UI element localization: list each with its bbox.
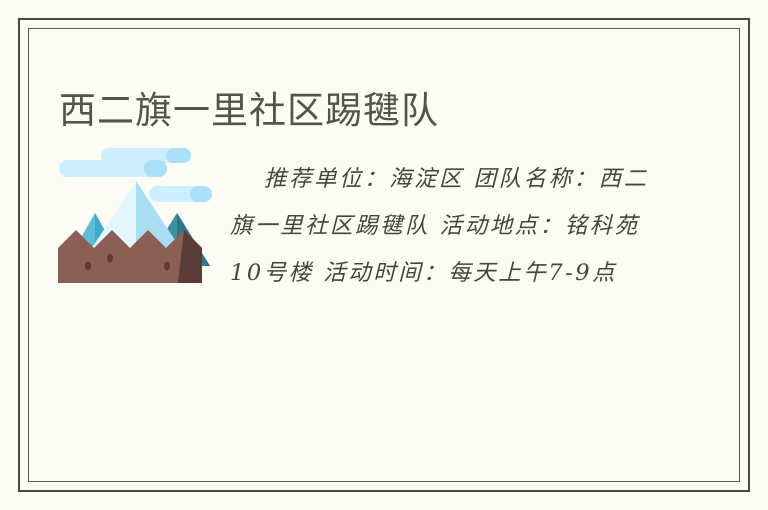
content-row: 推荐单位：海淀区 团队名称：西二旗一里社区踢毽队 活动地点：铭科苑10号楼 活动… [52, 138, 720, 298]
mountain-landscape-icon [52, 138, 218, 298]
page-title: 西二旗一里社区踢毽队 [59, 87, 439, 135]
content-card: 西二旗一里社区踢毽队 [28, 28, 740, 482]
team-details-text: 推荐单位：海淀区 团队名称：西二旗一里社区踢毽队 活动地点：铭科苑10号楼 活动… [230, 138, 650, 297]
